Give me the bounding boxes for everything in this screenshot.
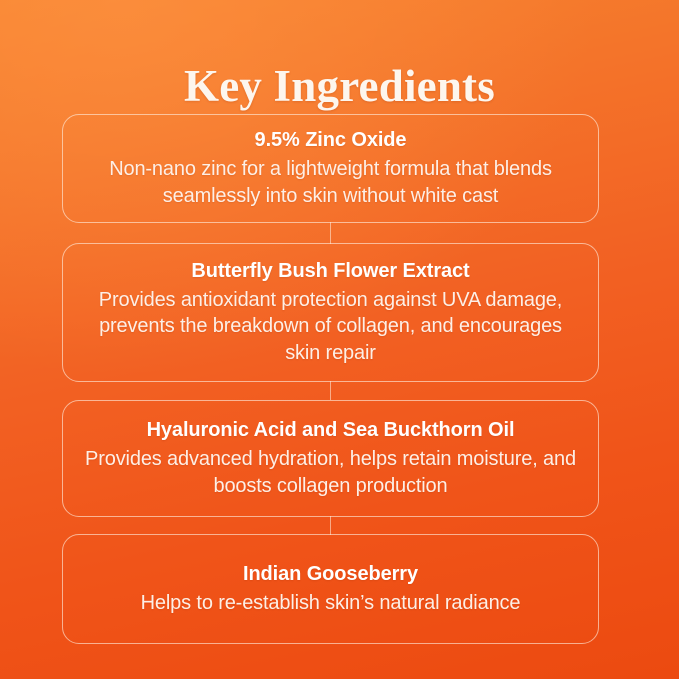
ingredient-card-heading: Indian Gooseberry xyxy=(243,562,418,586)
ingredient-card-zinc-oxide: 9.5% Zinc Oxide Non-nano zinc for a ligh… xyxy=(62,114,599,223)
ingredient-card-hyaluronic-acid-sea-buckthorn-oil: Hyaluronic Acid and Sea Buckthorn Oil Pr… xyxy=(62,400,599,517)
card-connector-line-1 xyxy=(330,222,331,244)
card-connector-line-2 xyxy=(330,381,331,400)
ingredient-card-butterfly-bush-flower-extract: Butterfly Bush Flower Extract Provides a… xyxy=(62,243,599,382)
ingredient-card-heading: 9.5% Zinc Oxide xyxy=(255,128,407,152)
key-ingredients-poster: Key Ingredients 9.5% Zinc Oxide Non-nano… xyxy=(0,0,679,679)
ingredient-card-description: Provides advanced hydration, helps retai… xyxy=(81,446,581,499)
ingredient-card-description: Non-nano zinc for a lightweight formula … xyxy=(81,156,581,209)
ingredient-card-heading: Butterfly Bush Flower Extract xyxy=(191,259,469,283)
card-connector-line-3 xyxy=(330,516,331,535)
ingredient-card-description: Provides antioxidant protection against … xyxy=(81,287,581,367)
ingredient-card-heading: Hyaluronic Acid and Sea Buckthorn Oil xyxy=(147,418,515,442)
ingredient-card-indian-gooseberry: Indian Gooseberry Helps to re-establish … xyxy=(62,534,599,644)
page-title: Key Ingredients xyxy=(184,63,495,110)
ingredient-card-description: Helps to re-establish skin’s natural rad… xyxy=(141,590,521,617)
